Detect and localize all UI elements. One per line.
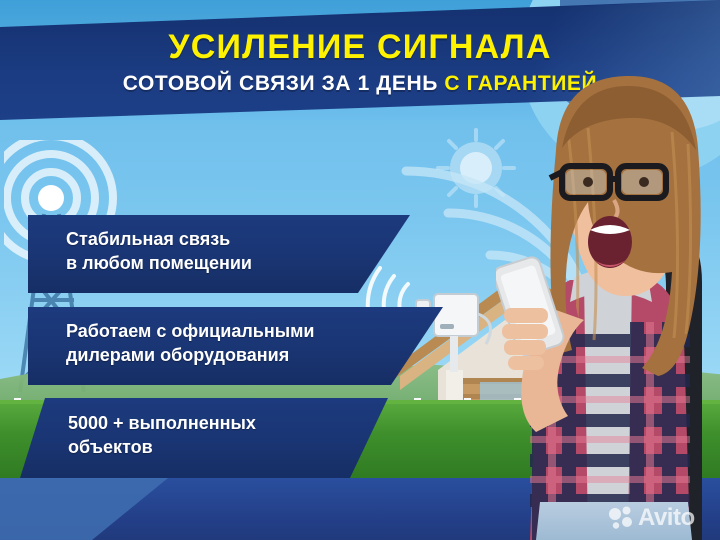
woman-with-smartphone-photo [496, 72, 720, 540]
feature-banner-3-line-2: объектов [68, 436, 388, 460]
avito-watermark: Avito [608, 503, 712, 533]
feature-banner-1-line-2: в любом помещении [66, 252, 410, 276]
advertisement-banner: УСИЛЕНИЕ СИГНАЛА СОТОВОЙ СВЯЗИ ЗА 1 ДЕНЬ… [0, 0, 720, 540]
feature-banner-2-line-1: Работаем с официальными [66, 320, 443, 344]
feature-banner-1-line-1: Стабильная связь [66, 228, 410, 252]
feature-banner-3: 5000 + выполненных объектов [20, 398, 388, 478]
feature-banner-3-line-1: 5000 + выполненных [68, 412, 388, 436]
feature-banner-2: Работаем с официальными дилерами оборудо… [28, 307, 443, 385]
feature-banner-1: Стабильная связь в любом помещении [28, 215, 410, 293]
feature-banner-2-line-2: дилерами оборудования [66, 344, 443, 368]
avito-watermark-label: Avito [638, 506, 695, 530]
avito-logo-icon [608, 505, 634, 531]
